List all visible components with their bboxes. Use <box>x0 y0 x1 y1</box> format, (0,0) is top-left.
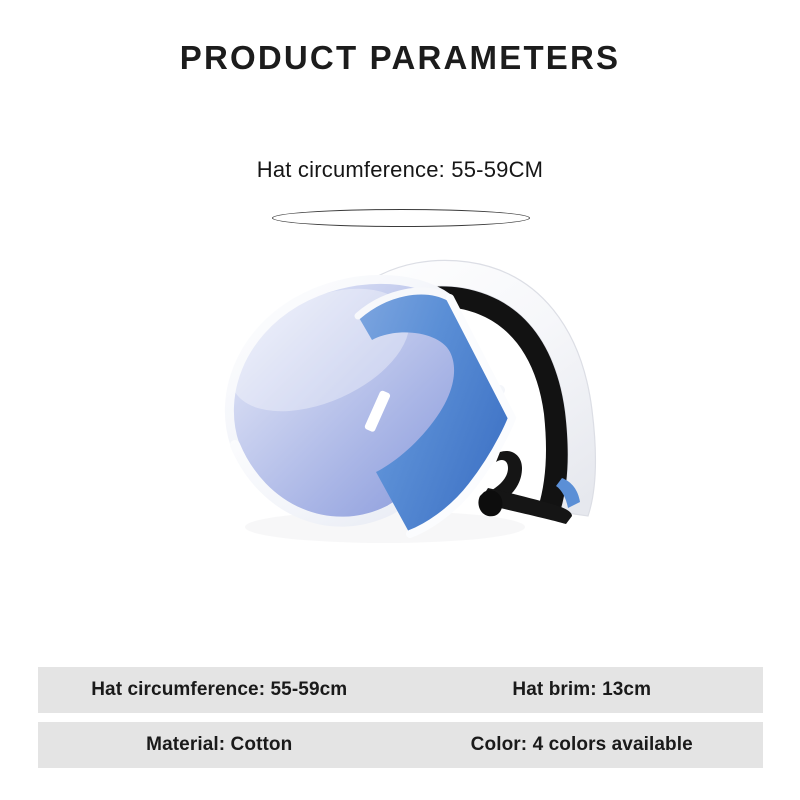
ellipse-outline-icon <box>272 209 530 227</box>
spec-material: Material: Cotton <box>38 722 401 768</box>
spec-hat-circumference: Hat circumference: 55-59cm <box>38 667 401 713</box>
spec-color: Color: 4 colors available <box>401 722 764 768</box>
spec-hat-brim: Hat brim: 13cm <box>401 667 764 713</box>
sun-visor-hat-image <box>200 240 630 580</box>
table-row: Material: Cotton Color: 4 colors availab… <box>38 722 763 768</box>
spec-table: Hat circumference: 55-59cm Hat brim: 13c… <box>38 667 763 768</box>
product-parameters-page: PRODUCT PARAMETERS Hat circumference: 55… <box>0 0 800 800</box>
hat-circumference-callout-label: Hat circumference: 55-59CM <box>0 156 800 184</box>
table-row: Hat circumference: 55-59cm Hat brim: 13c… <box>38 667 763 713</box>
strap-buckle <box>478 490 502 516</box>
page-title: PRODUCT PARAMETERS <box>0 38 800 78</box>
